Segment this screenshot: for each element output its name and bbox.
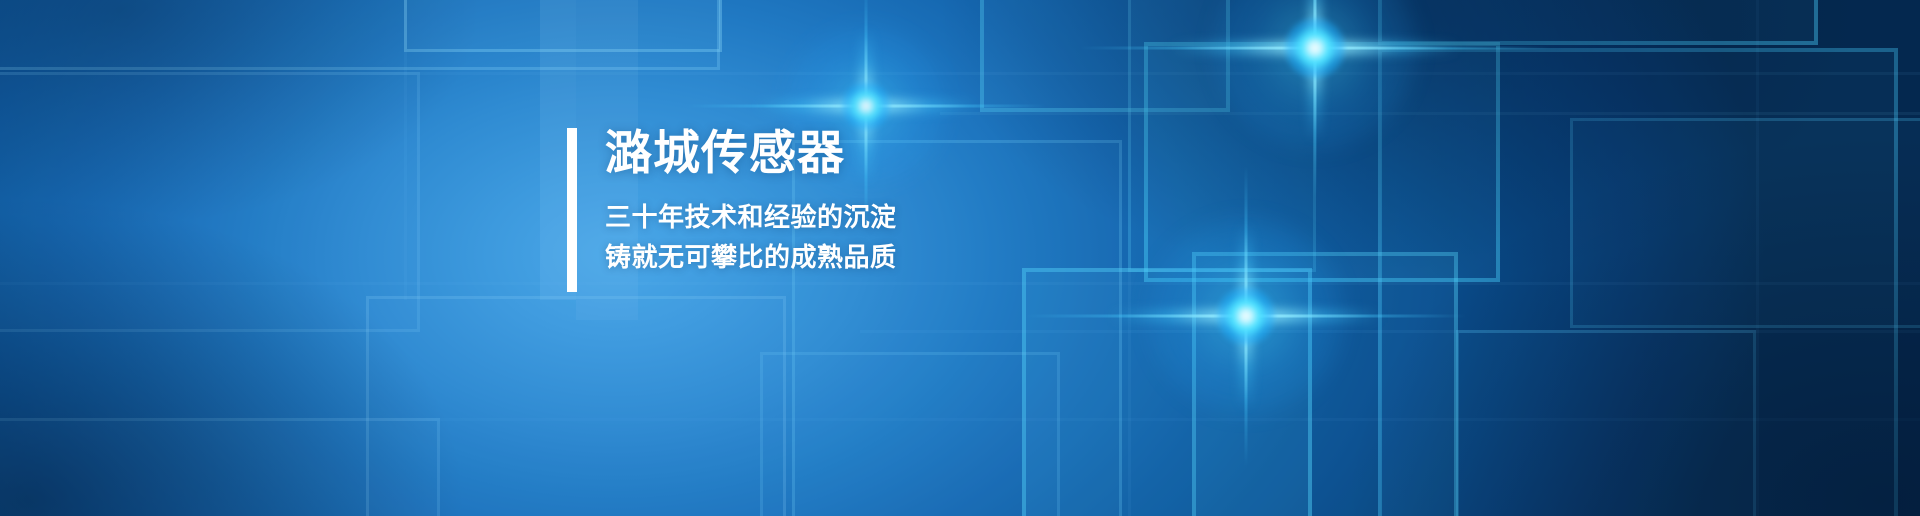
flare-top-right bbox=[1160, 0, 1470, 203]
flare-horizontal-glow bbox=[754, 100, 977, 113]
subtitle-line-2: 铸就无可攀比的成熟品质 bbox=[605, 237, 897, 277]
flare-core bbox=[1217, 287, 1275, 345]
flare-vertical-glow bbox=[1240, 223, 1253, 409]
flare-horizontal-glow bbox=[1110, 310, 1383, 323]
flare-vertical-beam bbox=[1245, 166, 1248, 466]
accent-bar bbox=[567, 128, 577, 292]
banner-subtitle: 三十年技术和经验的沉淀 铸就无可攀比的成熟品质 bbox=[605, 197, 897, 277]
banner-text-column: 潞城传感器 三十年技术和经验的沉淀 铸就无可攀比的成熟品质 bbox=[605, 128, 897, 292]
flare-core bbox=[842, 82, 890, 130]
flare-horizontal-beam bbox=[686, 105, 1046, 108]
flare-halo bbox=[1147, 217, 1344, 414]
hero-banner: 潞城传感器 三十年技术和经验的沉淀 铸就无可攀比的成熟品质 bbox=[0, 0, 1920, 516]
banner-text-block: 潞城传感器 三十年技术和经验的沉淀 铸就无可攀比的成熟品质 bbox=[567, 128, 897, 292]
flare-halo bbox=[1213, 0, 1417, 150]
flare-vertical-beam bbox=[1314, 0, 1317, 198]
flare-core bbox=[1285, 18, 1345, 78]
flare-bottom-right bbox=[1096, 166, 1396, 466]
flare-horizontal-beam bbox=[1080, 47, 1550, 50]
flare-horizontal-glow bbox=[1169, 42, 1460, 55]
page-title: 潞城传感器 bbox=[605, 128, 897, 178]
flare-vertical-glow bbox=[1309, 0, 1322, 141]
flare-horizontal-beam bbox=[1026, 315, 1466, 318]
subtitle-line-1: 三十年技术和经验的沉淀 bbox=[605, 197, 897, 237]
lens-flares-layer bbox=[0, 0, 1920, 516]
